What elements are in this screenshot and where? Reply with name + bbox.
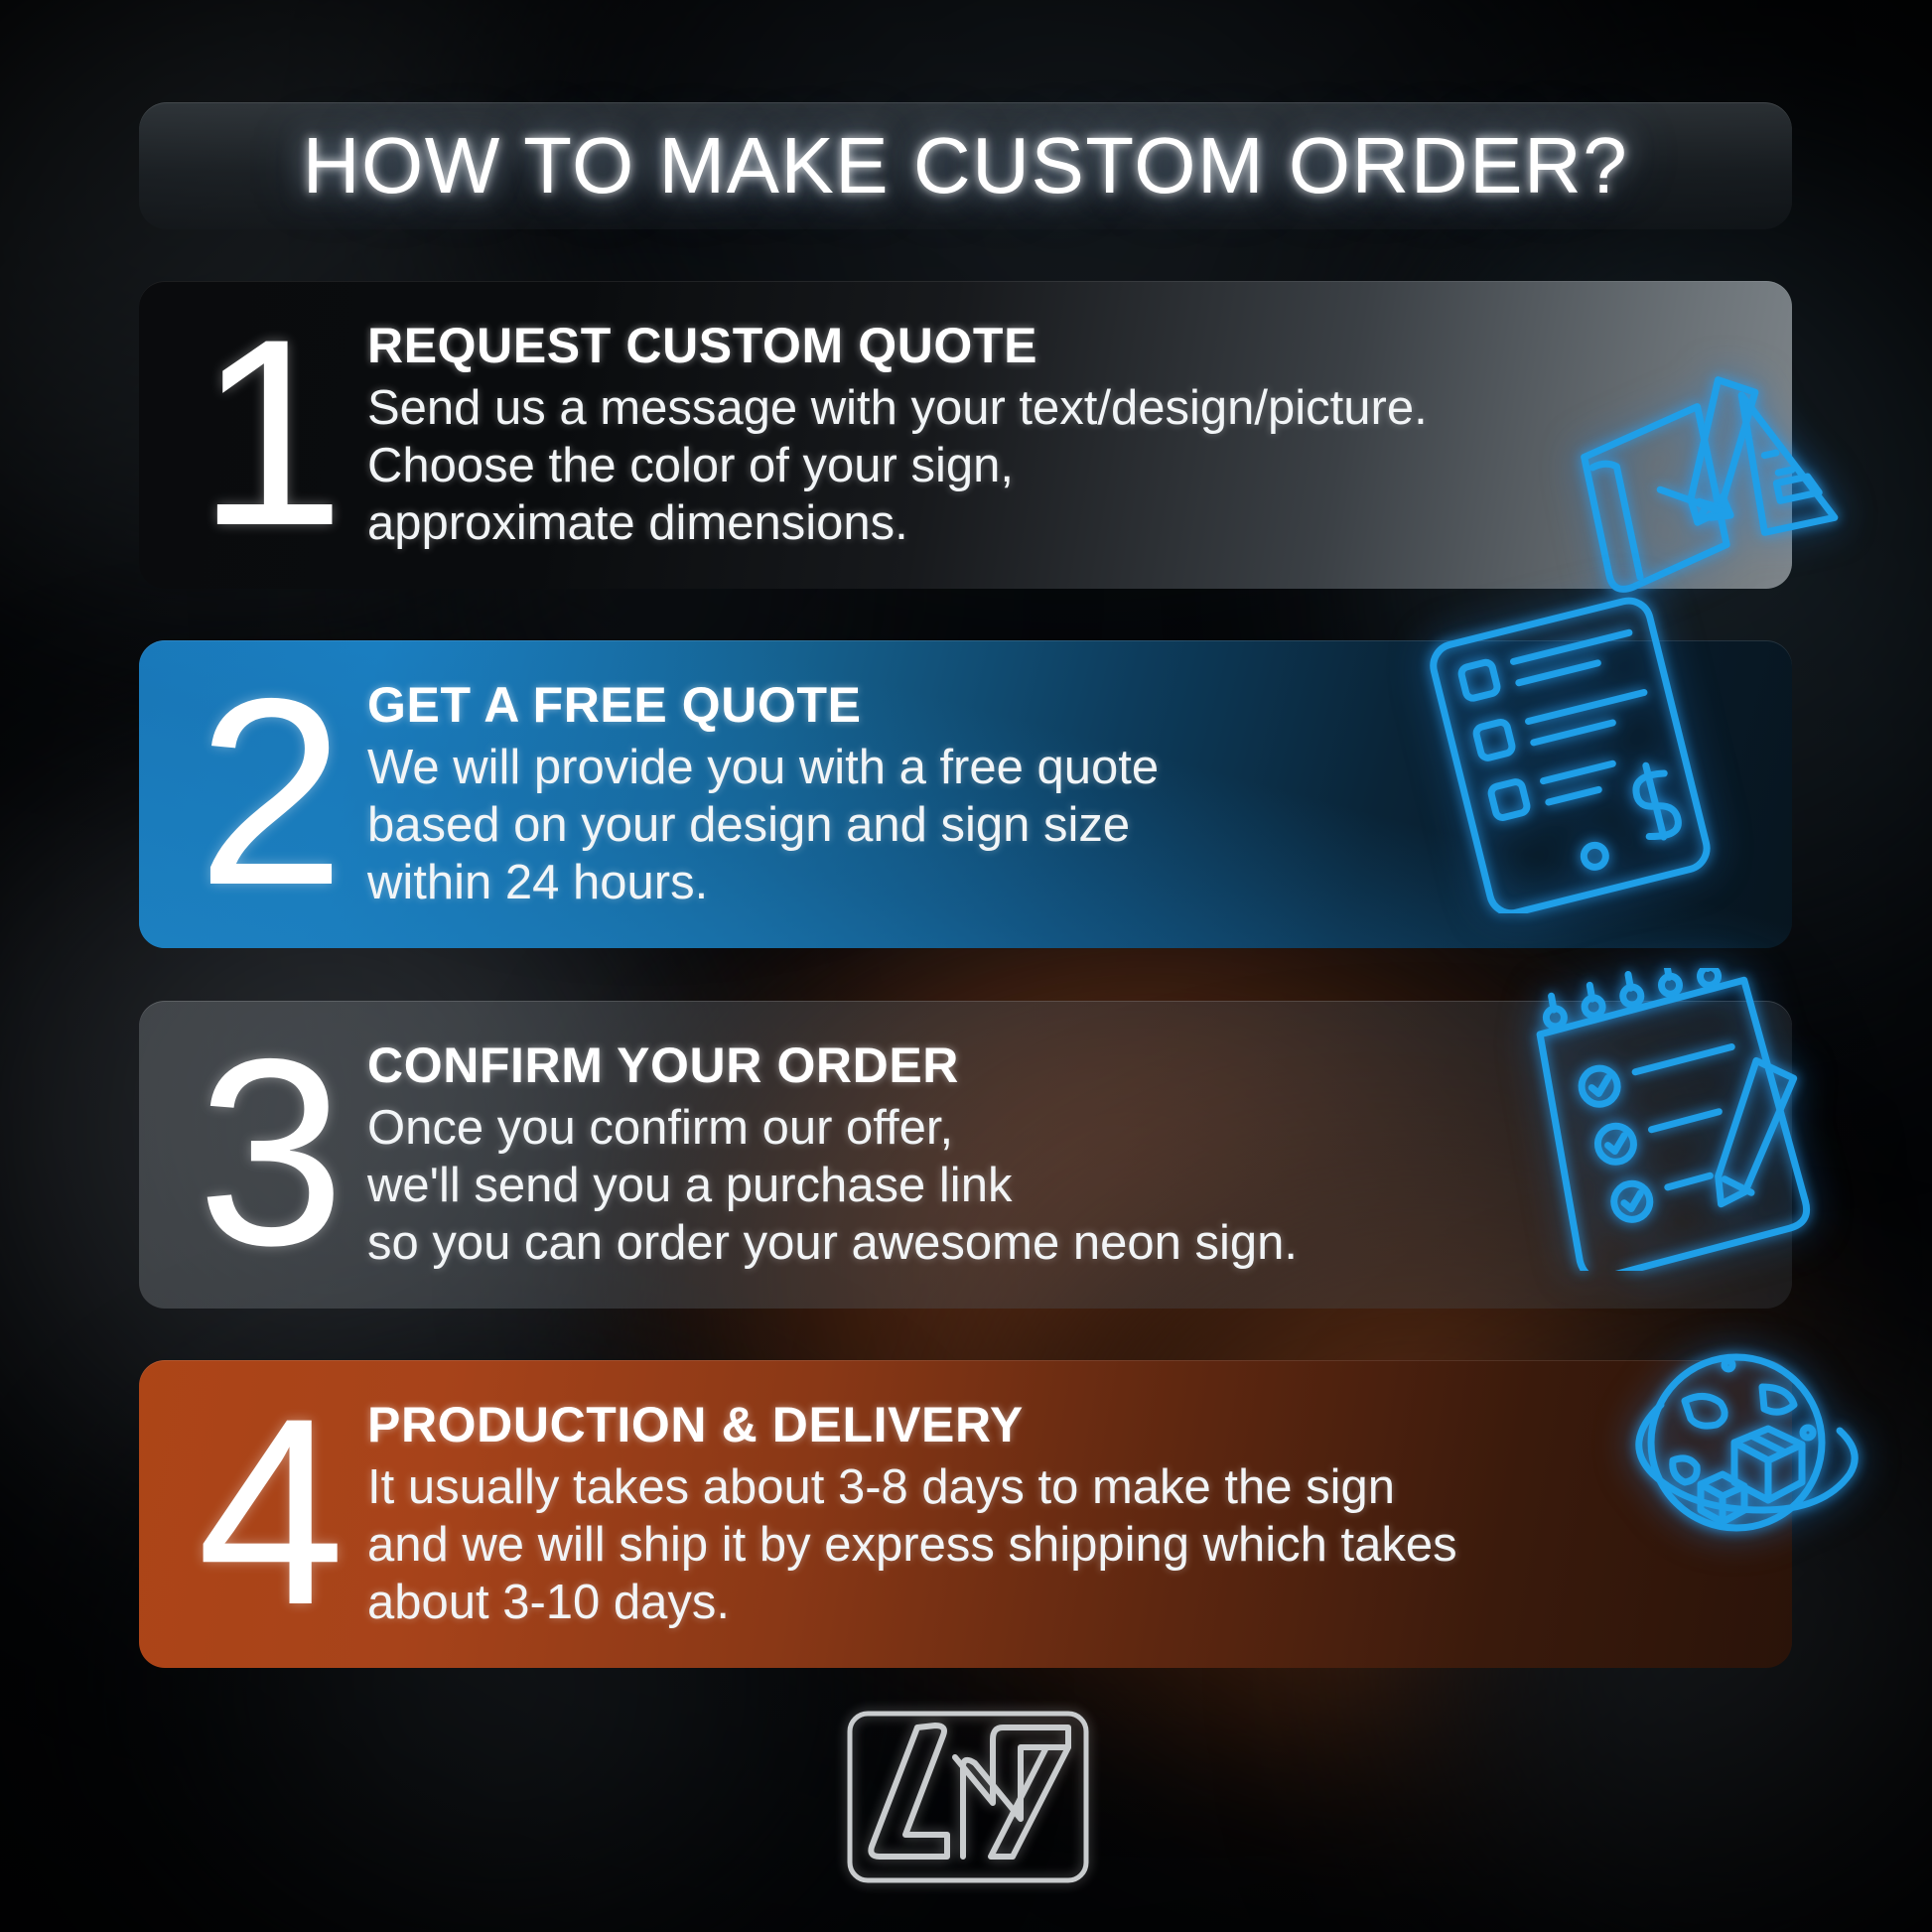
step-number-1: 1 [185, 318, 353, 546]
step-card-3: 3 CONFIRM YOUR ORDER Once you confirm ou… [139, 1001, 1792, 1309]
step-1-line-1: Send us a message with your text/design/… [367, 380, 1792, 438]
step-1-line-2: Choose the color of your sign, [367, 438, 1792, 495]
step-3-line-3: so you can order your awesome neon sign. [367, 1215, 1792, 1273]
step-3-line-1: Once you confirm our offer, [367, 1100, 1792, 1158]
step-card-1: 1 REQUEST CUSTOM QUOTE Send us a message… [139, 281, 1792, 589]
step-2-line-3: within 24 hours. [367, 855, 1792, 912]
ln-monogram-logo [844, 1708, 1092, 1886]
step-2-line-2: based on your design and sign size [367, 797, 1792, 855]
step-description-2: We will provide you with a free quote ba… [367, 740, 1792, 911]
step-number-3: 3 [185, 1037, 353, 1266]
step-2-line-1: We will provide you with a free quote [367, 740, 1792, 797]
step-description-1: Send us a message with your text/design/… [367, 380, 1792, 552]
step-heading-1: REQUEST CUSTOM QUOTE [367, 317, 1792, 374]
step-heading-3: CONFIRM YOUR ORDER [367, 1036, 1792, 1094]
step-number-2: 2 [185, 677, 353, 905]
step-4-line-2: and we will ship it by express shipping … [367, 1517, 1792, 1575]
step-card-4: 4 PRODUCTION & DELIVERY It usually takes… [139, 1360, 1792, 1668]
step-number-4: 4 [185, 1397, 353, 1625]
step-description-3: Once you confirm our offer, we'll send y… [367, 1100, 1792, 1272]
step-1-line-3: approximate dimensions. [367, 495, 1792, 553]
step-4-line-1: It usually takes about 3-8 days to make … [367, 1459, 1792, 1517]
step-3-line-2: we'll send you a purchase link [367, 1158, 1792, 1215]
title-banner: HOW TO MAKE CUSTOM ORDER? [139, 102, 1792, 229]
step-card-2: 2 GET A FREE QUOTE We will provide you w… [139, 640, 1792, 948]
step-4-line-3: about 3-10 days. [367, 1575, 1792, 1632]
step-heading-4: PRODUCTION & DELIVERY [367, 1396, 1792, 1453]
step-heading-2: GET A FREE QUOTE [367, 676, 1792, 734]
page-title: HOW TO MAKE CUSTOM ORDER? [303, 120, 1628, 211]
step-description-4: It usually takes about 3-8 days to make … [367, 1459, 1792, 1631]
